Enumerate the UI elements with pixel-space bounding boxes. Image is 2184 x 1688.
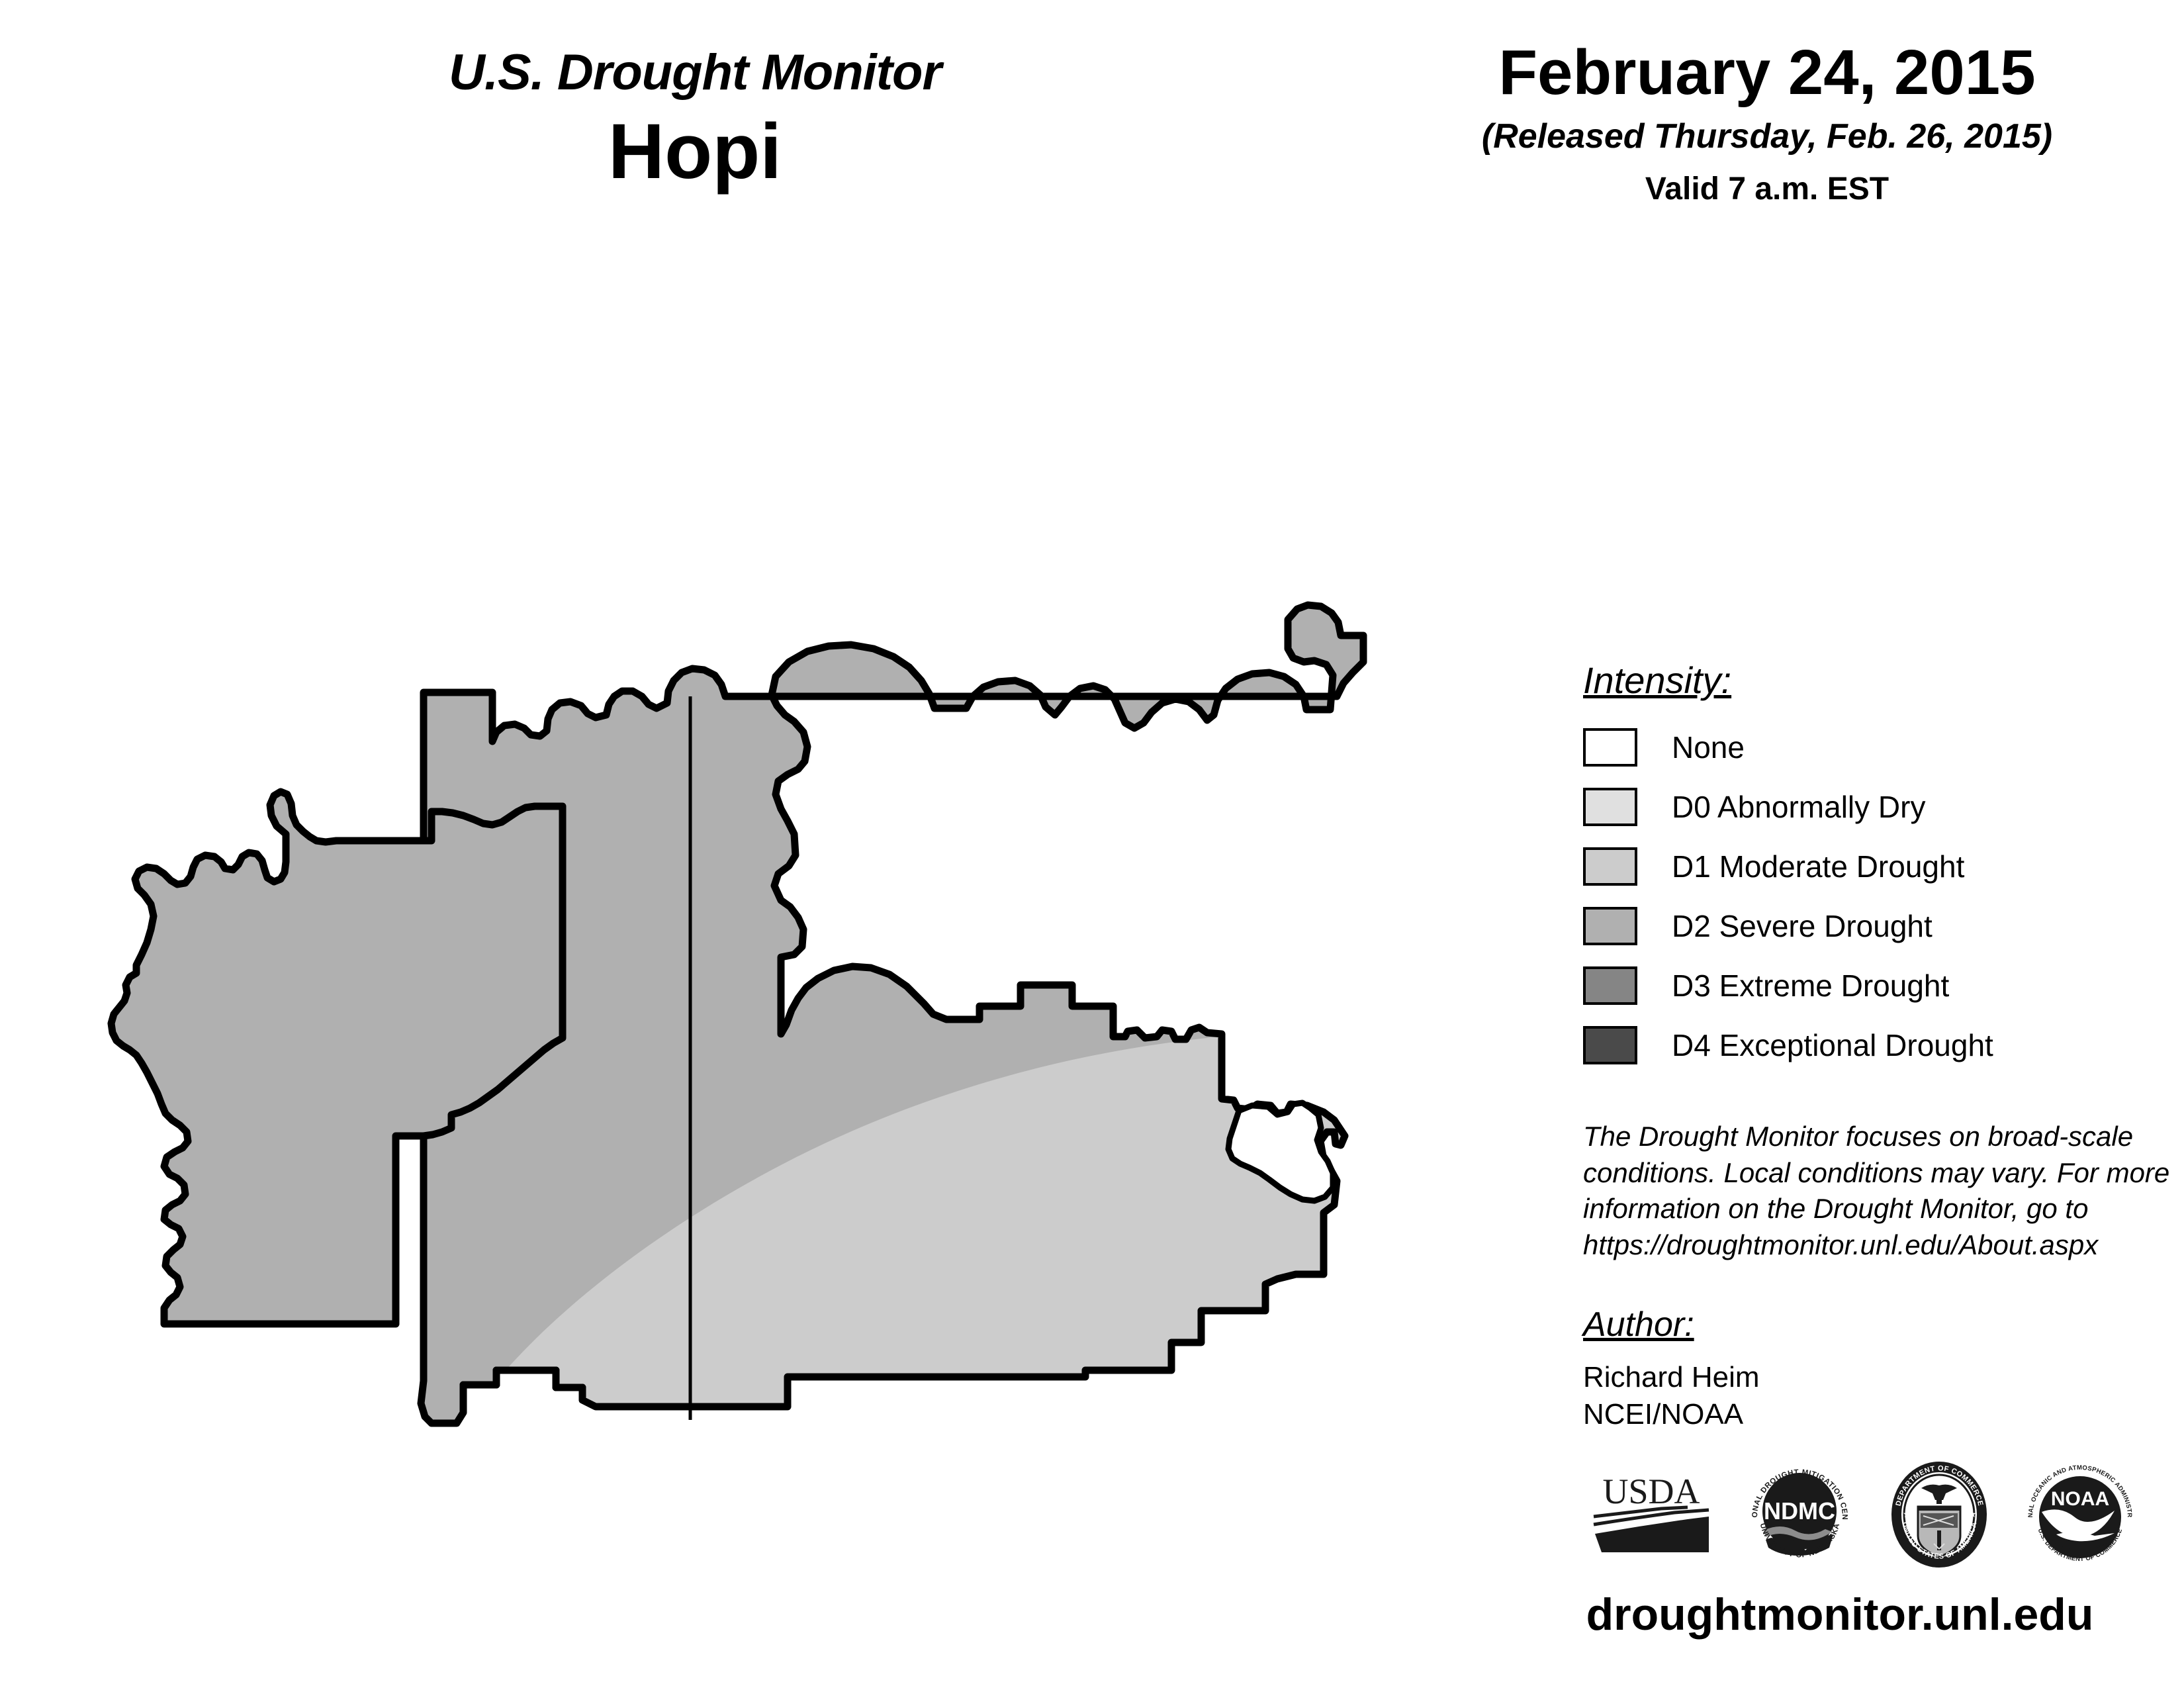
region-title: Hopi [199,111,1191,193]
ndmc-logo[interactable]: NDMC NATIONAL DROUGHT MITIGATION CENTER … [1742,1456,1858,1575]
legend-label-d0: D0 Abnormally Dry [1672,792,1925,822]
disclaimer-text: The Drought Monitor focuses on broad-sca… [1583,1119,2184,1263]
legend-item-d0[interactable]: D0 Abnormally Dry [1583,777,2165,837]
legend-panel: Intensity: None D0 Abnormally Dry D1 Mod… [1583,662,2165,1075]
map-svg [0,252,1542,1609]
doc-seal-svg: ★ ★ DEPARTMENT OF COMMERCE UNITED STATES… [1885,1456,1994,1572]
author-name: Richard Heim [1583,1359,2113,1396]
ndmc-logo-text: NDMC [1764,1497,1835,1524]
svg-text:★: ★ [1903,1509,1911,1519]
noaa-logo-svg: NOAA NATIONAL OCEANIC AND ATMOSPHERIC AD… [2022,1456,2138,1572]
author-heading: Author: [1583,1307,2113,1342]
valid-time: Valid 7 a.m. EST [1377,170,2158,209]
drought-map[interactable] [0,252,1542,1609]
header-title-block: U.S. Drought Monitor Hopi [199,46,1191,193]
page-title: U.S. Drought Monitor [199,46,1191,99]
footer-url[interactable]: droughtmonitor.unl.edu [1542,1589,2138,1640]
usda-logo[interactable]: USDA [1588,1465,1714,1568]
valid-date: February 24, 2015 [1377,40,2158,107]
legend-heading: Intensity: [1583,662,2165,699]
usda-logo-svg: USDA [1588,1465,1714,1564]
department-of-commerce-seal[interactable]: ★ ★ DEPARTMENT OF COMMERCE UNITED STATES… [1885,1456,1994,1575]
legend-item-none[interactable]: None [1583,718,2165,777]
header-date-block: February 24, 2015 (Released Thursday, Fe… [1377,40,2158,209]
author-block: Author: Richard Heim NCEI/NOAA [1583,1307,2113,1434]
legend-item-d3[interactable]: D3 Extreme Drought [1583,956,2165,1015]
svg-text:★: ★ [1968,1509,1977,1519]
legend-label-none: None [1672,732,1745,763]
legend-swatch-none [1583,728,1637,767]
legend-label-d2: D2 Severe Drought [1672,911,1933,941]
usda-logo-text: USDA [1602,1472,1700,1511]
legend-item-d2[interactable]: D2 Severe Drought [1583,896,2165,956]
legend-label-d1: D1 Moderate Drought [1672,851,1964,882]
legend-item-d4[interactable]: D4 Exceptional Drought [1583,1015,2165,1075]
noaa-logo[interactable]: NOAA NATIONAL OCEANIC AND ATMOSPHERIC AD… [2022,1456,2138,1575]
legend-label-d3: D3 Extreme Drought [1672,970,1949,1001]
author-affiliation: NCEI/NOAA [1583,1396,2113,1433]
legend-swatch-d2 [1583,907,1637,945]
legend-swatch-d4 [1583,1026,1637,1064]
legend-item-d1[interactable]: D1 Moderate Drought [1583,837,2165,896]
release-date: (Released Thursday, Feb. 26, 2015) [1377,116,2158,157]
noaa-logo-text: NOAA [2051,1488,2109,1510]
legend-swatch-d0 [1583,788,1637,826]
logo-row: USDA NDMC NATIONAL DROUGHT MITIGATION CE… [1588,1450,2138,1582]
legend-swatch-d3 [1583,966,1637,1005]
ndmc-logo-svg: NDMC NATIONAL DROUGHT MITIGATION CENTER … [1742,1456,1858,1572]
legend-label-d4: D4 Exceptional Drought [1672,1030,1993,1060]
legend-swatch-d1 [1583,847,1637,886]
